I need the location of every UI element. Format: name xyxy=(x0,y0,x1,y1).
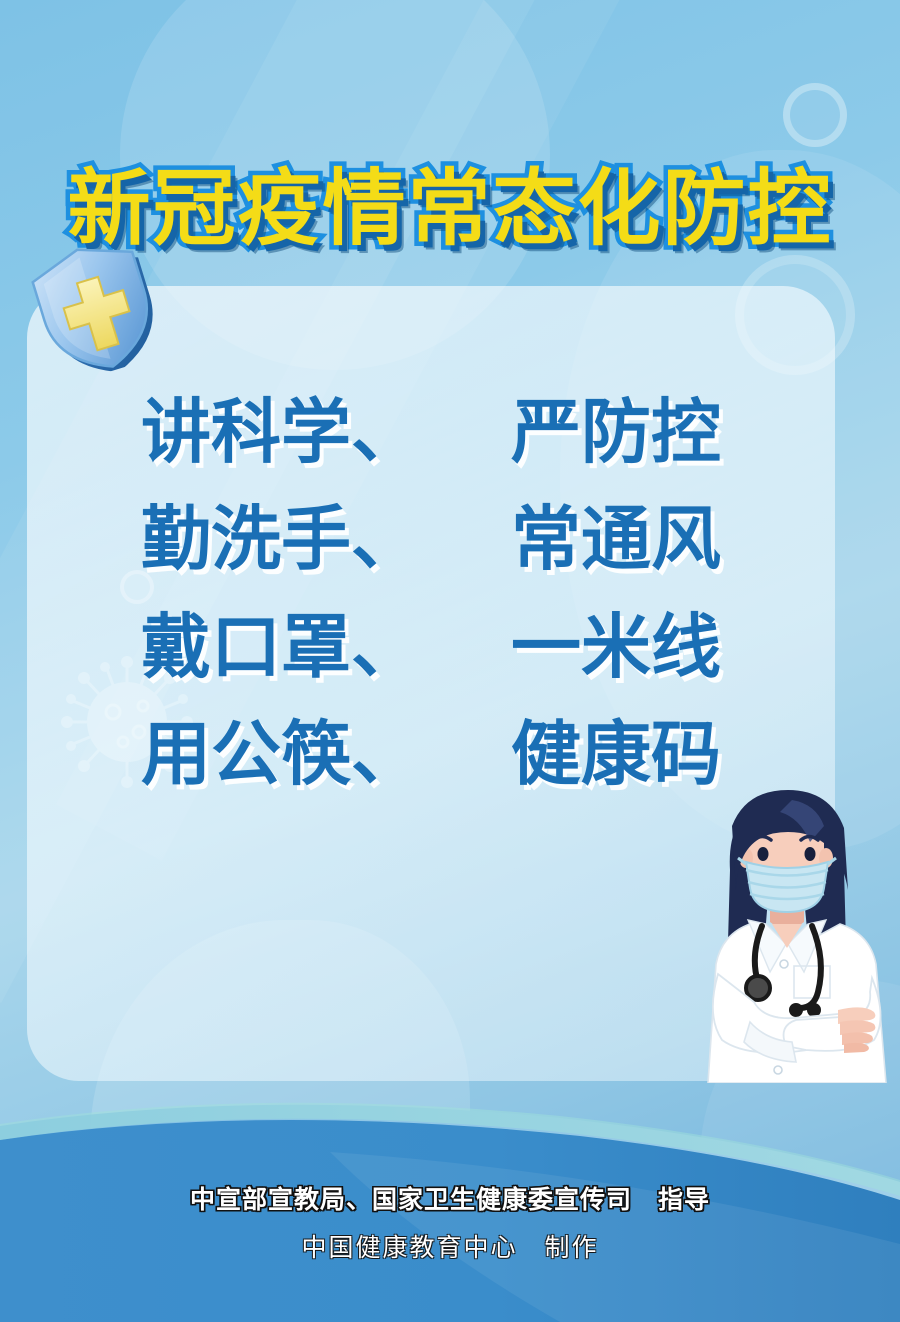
slogan-line: 用公筷、 健康码 xyxy=(141,712,721,797)
slogan-right: 严防控 xyxy=(511,390,721,475)
slogan-left: 讲科学、 xyxy=(141,390,421,475)
footer-credits: 中宣部宣教局、国家卫生健康委宣传司 指导 中国健康教育中心 制作 xyxy=(0,1180,900,1264)
footer-producer-line: 中国健康教育中心 制作 xyxy=(0,1228,900,1264)
footer-guidance-line: 中宣部宣教局、国家卫生健康委宣传司 指导 xyxy=(0,1180,900,1216)
slogan-line: 勤洗手、 常通风 xyxy=(141,497,721,582)
slogan-right: 一米线 xyxy=(511,605,721,690)
slogan-list: 讲科学、 严防控 勤洗手、 常通风 戴口罩、 一米线 用公筷、 健康码 xyxy=(27,390,835,798)
slogan-left: 戴口罩、 xyxy=(141,605,421,690)
bubble-decoration-icon xyxy=(783,83,847,147)
female-doctor-with-mask-illustration xyxy=(688,778,900,1083)
slogan-left: 勤洗手、 xyxy=(141,497,421,582)
poster-canvas: 新冠疫情常态化防控 讲科学、 严防控 xyxy=(0,0,900,1322)
slogan-left: 用公筷、 xyxy=(141,712,421,797)
page-title: 新冠疫情常态化防控 xyxy=(68,165,833,252)
slogan-line: 讲科学、 严防控 xyxy=(141,390,721,475)
slogan-right: 常通风 xyxy=(511,497,721,582)
slogan-line: 戴口罩、 一米线 xyxy=(141,605,721,690)
